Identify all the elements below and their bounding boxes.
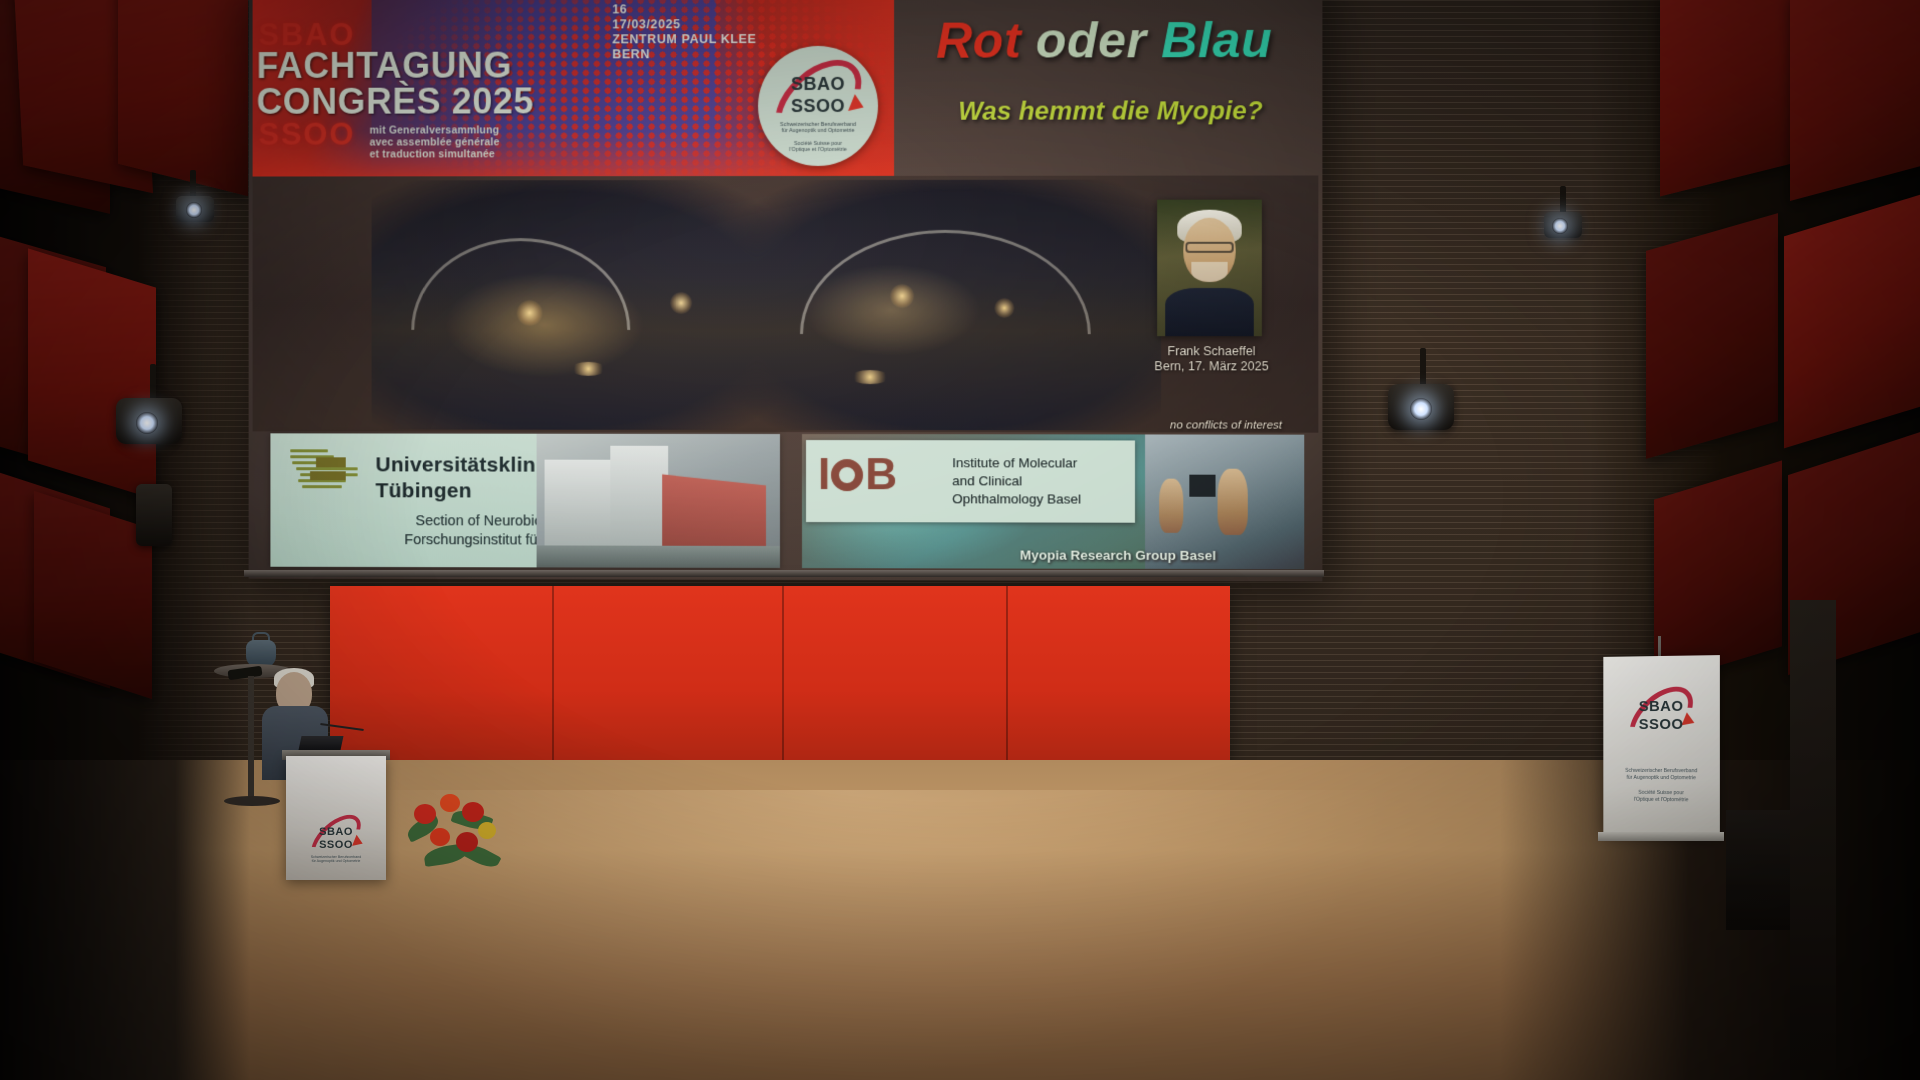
rollup-sub-fr: Société Suisse pour l'Optique et l'Optom… [1611,790,1712,805]
tuebingen-logo-mark-icon [290,449,361,495]
sbao-logo-sub-de: Schweizerischer Berufsverband für Augeno… [758,122,878,135]
slide-subtitle: Was hemmt die Myopie? [958,95,1263,127]
podium-logo-sub: Schweizerischer Berufsverband für Augeno… [300,855,372,863]
backdrop-seam-1 [552,586,554,774]
auditorium-scene: SBAO FACHTAGUNG CONGRÈS 2025 SSOO mit Ge… [0,0,1920,1080]
side-table-base [224,796,280,806]
iob-description: Institute of Molecular and Clinical Opht… [952,454,1081,508]
spotlight-body-left-3 [136,484,172,546]
acoustic-panel-right-5 [1654,460,1782,685]
spotlight-lens-right-1 [1552,218,1568,234]
iob-wordmark: IB [818,450,896,500]
sbao-logo: SBAO SSOO Schweizerischer Berufsverband … [758,46,878,166]
banner-subtitle-line-3: et traduction simultanée [370,148,500,160]
flower-arrangement [400,776,520,886]
sbao-logo-text-top: SBAO [758,74,878,95]
acoustic-panel-left-5 [28,248,156,499]
stage-red-backdrop [330,586,1230,774]
rollup-sub-de: Schweizerischer Berufsverband für Augeno… [1611,768,1712,783]
portrait-beard [1191,262,1227,282]
speaker-name: Frank Schaeffel [1153,344,1270,359]
tuebingen-logo-block: Universitätsklinikum Tübingen Section of… [270,433,780,568]
acoustic-panel-right-3 [1646,213,1778,459]
iob-description-line1: Institute of Molecular [952,454,1081,472]
conflict-of-interest-note: no conflicts of interest [1131,419,1282,431]
rollup-banner-base [1598,832,1724,841]
podium-laptop [299,736,344,750]
acoustic-panel-right-4 [1784,192,1920,449]
bridge-arch-right [800,230,1091,334]
acoustic-panel-right-2 [1790,0,1920,201]
banner-date-block: 16 17/03/2025 ZENTRUM PAUL KLEE BERN [612,2,756,62]
backdrop-seam-3 [1006,586,1008,774]
banner-subtitle: mit Generalversammlung avec assemblée gé… [370,124,500,160]
iob-group-caption: Myopia Research Group Basel [952,547,1284,563]
podium-logo-text-bottom: SSOO [300,839,372,851]
street-light-4 [994,298,1014,318]
building-block-1 [545,460,615,546]
building-block-2 [610,446,668,546]
backdrop-seam-2 [782,586,784,774]
title-word-oder: oder [1021,12,1161,68]
portrait-glasses-icon [1185,242,1233,253]
street-light-3 [890,284,914,308]
flower-bloom-5 [456,832,478,852]
banner-subtitle-line-1: mit Generalversammlung [370,124,500,136]
podium-logo-text-top: SBAO [300,826,372,838]
tuebingen-building-photo [537,434,780,568]
banner-date-line-2: 17/03/2025 [612,17,756,32]
acoustic-panel-right-1 [1660,0,1792,196]
iob-letter-b: B [865,450,896,499]
title-word-blau: Blau [1161,12,1272,68]
speaker-place-date: Bern, 17. März 2025 [1153,359,1270,374]
rollup-logo-text-bottom: SSOO [1617,716,1706,733]
podium-sbao-logo: SBAO SSOO Schweizerischer Berufsverband … [300,810,372,872]
spotlight-lens-right-2 [1410,398,1432,420]
water-reflection-2 [850,370,890,384]
team-person-2 [1218,469,1248,535]
banner-subtitle-line-2: avec assemblée générale [370,136,500,148]
iob-description-line2: and Clinical [952,472,1081,490]
spotlight-lens-left-1 [186,202,202,218]
right-column-structure [1790,600,1836,1070]
speaker-credit: Frank Schaeffel Bern, 17. März 2025 [1153,344,1270,374]
rollup-banner: SBAO SSOO Schweizerischer Berufsverband … [1603,655,1720,835]
flower-bloom-3 [462,802,484,822]
banner-date-line-3: ZENTRUM PAUL KLEE [612,32,756,47]
sbao-logo-text-bottom: SSOO [758,96,878,117]
street-light-2 [670,292,692,314]
team-photo-monitor [1189,475,1215,497]
water-reflection-1 [570,362,606,376]
iob-letter-o-icon [831,459,863,491]
acoustic-panel-left-3 [118,0,248,196]
flower-bloom-2 [440,794,460,812]
flower-bloom-1 [414,804,436,824]
banner-date-line-1: 16 [612,2,756,17]
rollup-sbao-logo: SBAO SSOO [1617,677,1706,764]
projection-screen: SBAO FACHTAGUNG CONGRÈS 2025 SSOO mit Ge… [249,0,1323,581]
flower-bloom-4 [430,828,450,846]
street-light-1 [517,300,543,326]
flower-bloom-6 [478,822,496,839]
right-speaker-cabinet [1726,810,1790,930]
tuebingen-name-line2: Tübingen [376,479,472,503]
title-word-rot: Rot [936,12,1021,68]
iob-logo-block: IB Institute of Molecular and Clinical O… [802,434,1304,569]
floor-shadow-left [0,760,250,1080]
portrait-torso [1165,288,1254,336]
banner-org-bottom: SSOO [259,117,356,153]
affiliation-logo-band: Universitätsklinikum Tübingen Section of… [270,433,1304,571]
iob-description-line3: Ophthalmology Basel [952,490,1081,508]
projection-screen-frame [244,570,1324,577]
side-table-leg [248,676,254,800]
presentation-slide: SBAO FACHTAGUNG CONGRÈS 2025 SSOO mit Ge… [249,0,1323,581]
bridge-night-photo [372,180,1162,431]
banner-date-line-4: BERN [612,47,756,62]
rollup-logo-text-top: SBAO [1617,698,1706,716]
iob-letter-i: I [818,450,829,499]
iob-logo-card: IB Institute of Molecular and Clinical O… [806,440,1135,523]
building-block-4 [537,545,780,568]
speaker-portrait-photo [1157,200,1262,337]
team-person-1 [1159,479,1183,533]
spotlight-lens-left-2 [136,412,158,434]
slide-photo-band: Frank Schaeffel Bern, 17. März 2025 no c… [253,175,1319,432]
sbao-logo-sub-fr: Société Suisse pour l'Optique et l'Optom… [758,141,878,154]
slide-title: Rot oder Blau [936,11,1272,70]
